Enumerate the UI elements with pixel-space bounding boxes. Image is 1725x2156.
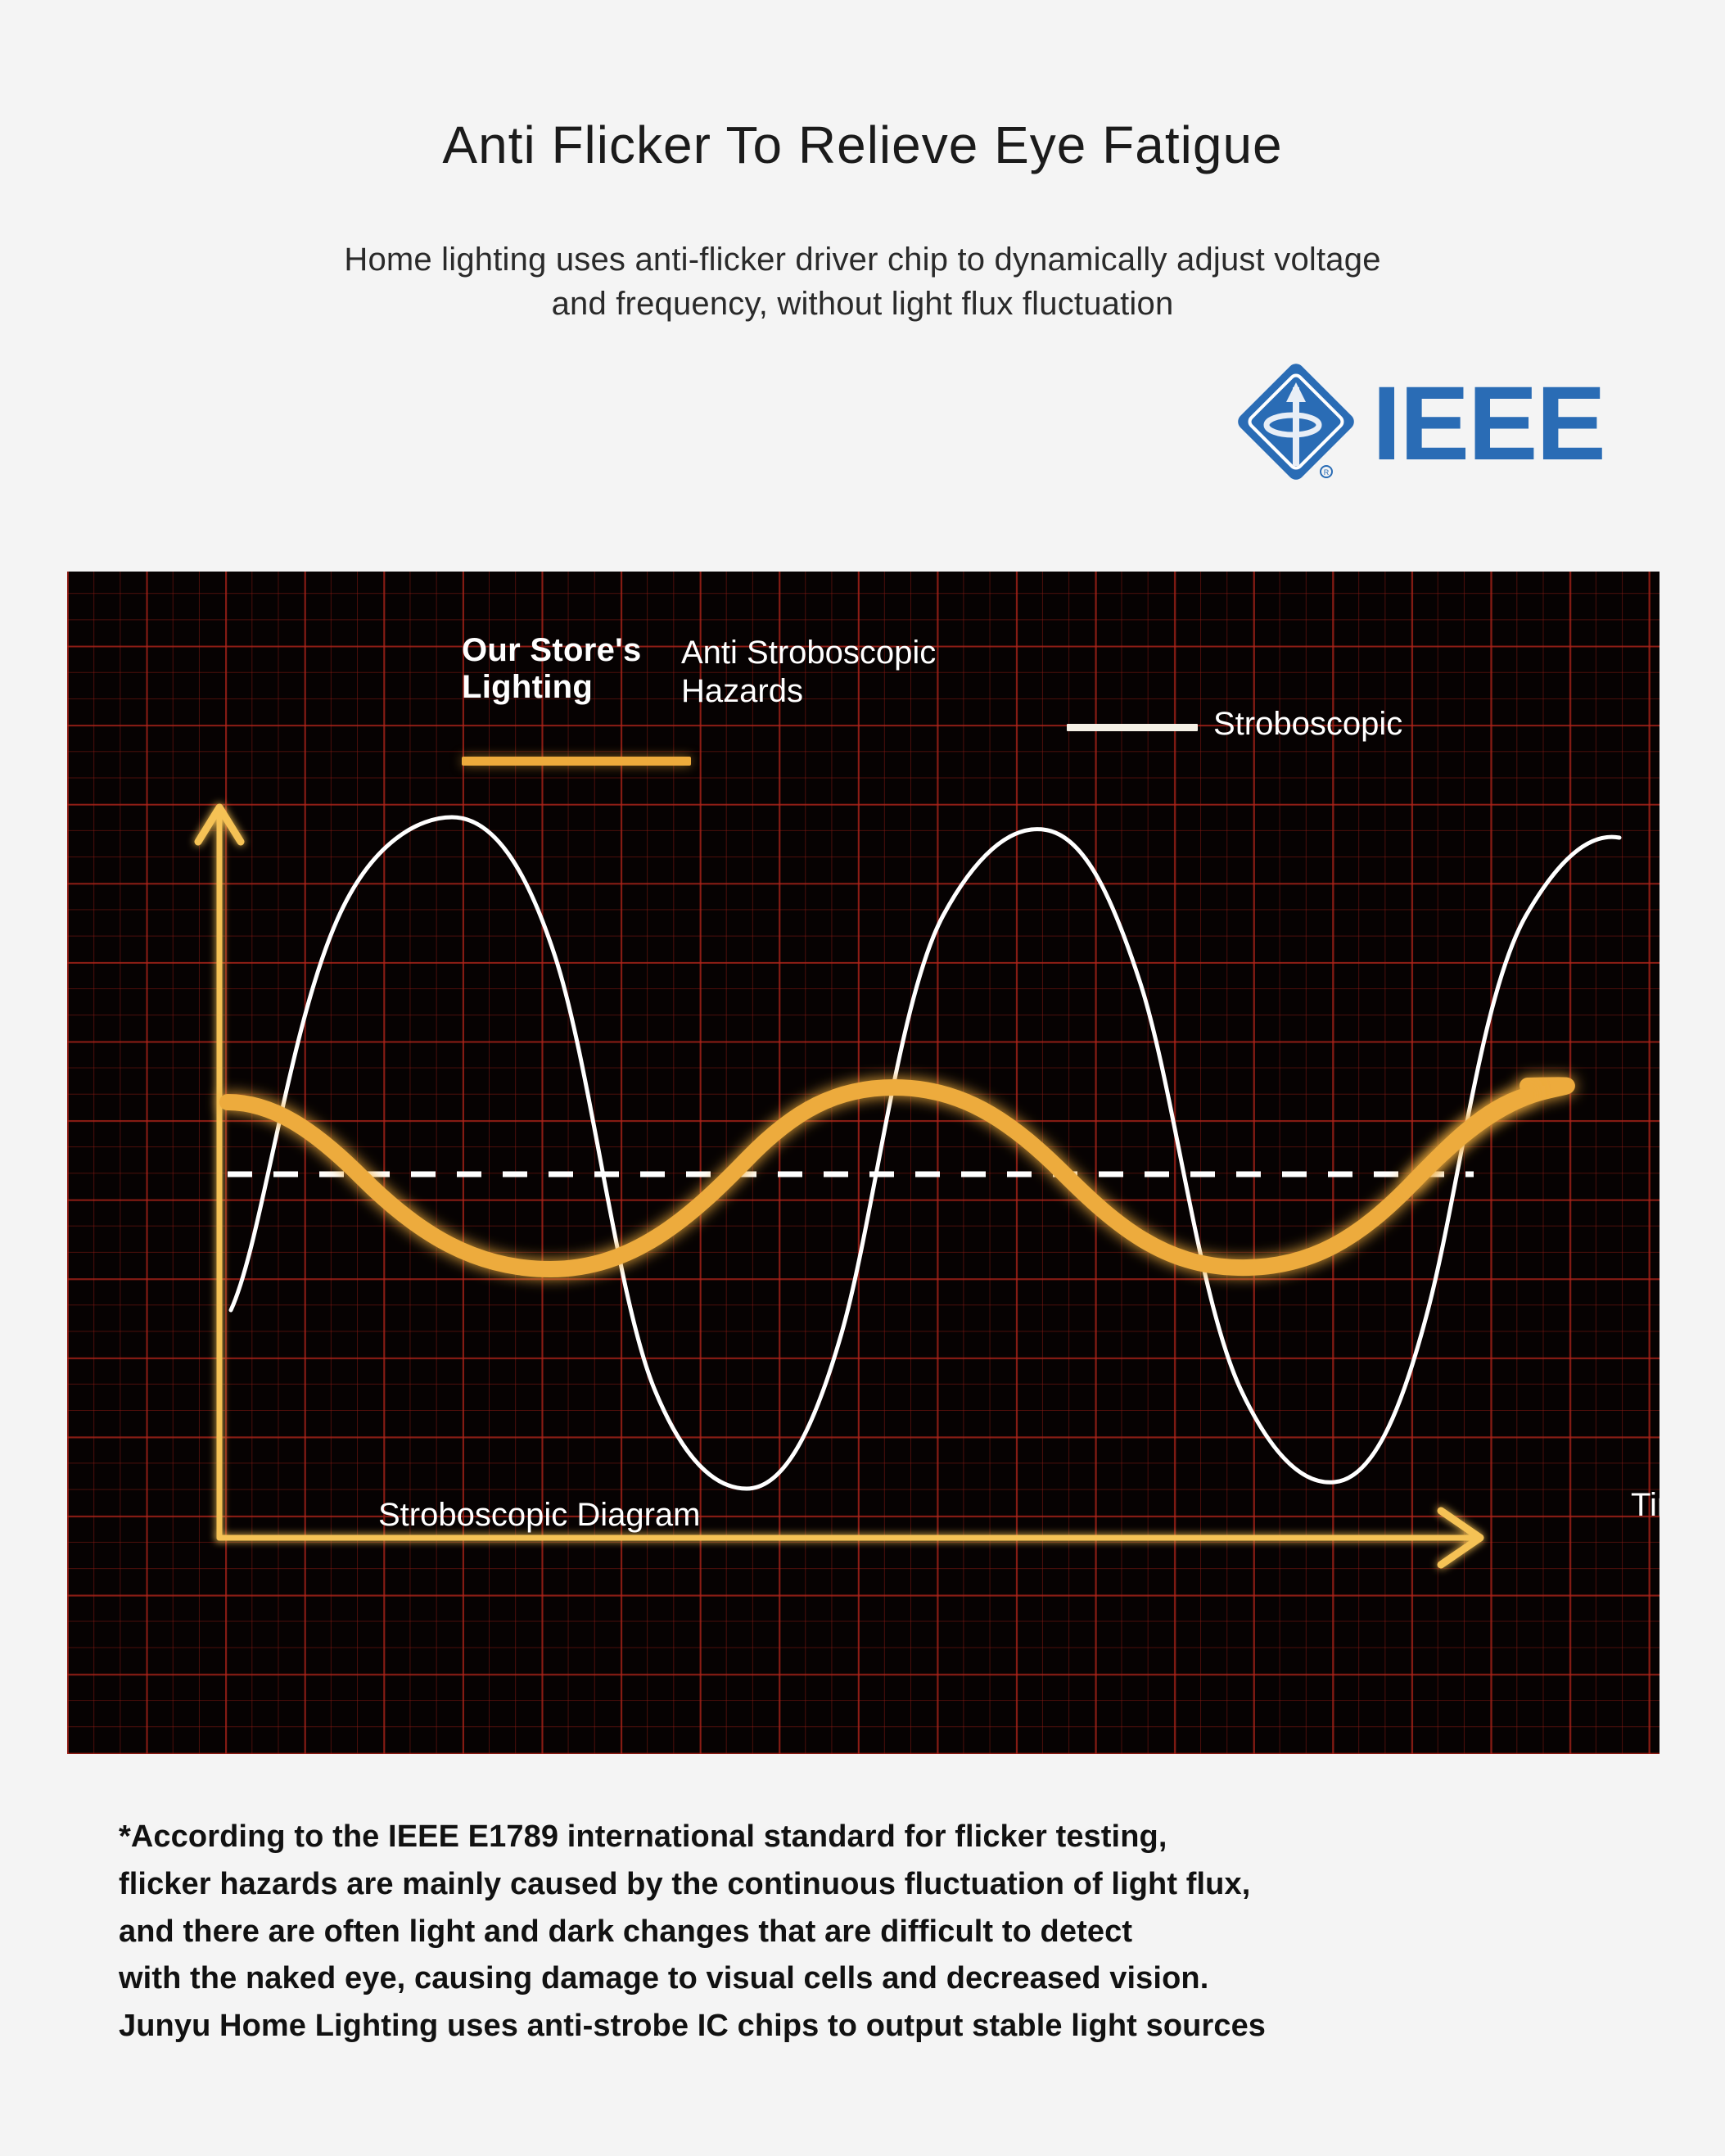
footnote-line-4: with the naked eye, causing damage to vi… (119, 1955, 1625, 2003)
infographic-page: Anti Flicker To Relieve Eye Fatigue Home… (0, 0, 1725, 2156)
ieee-diamond-icon: R (1235, 363, 1357, 486)
svg-text:R: R (1324, 468, 1330, 477)
page-subtitle-line-1: Home lighting uses anti-flicker driver c… (0, 237, 1725, 282)
chart-plot-area (67, 572, 1660, 1754)
footnote: *According to the IEEE E1789 internation… (119, 1814, 1625, 2050)
ieee-logo: R IEEE (1235, 359, 1652, 490)
footnote-line-5: Junyu Home Lighting uses anti-strobe IC … (119, 2003, 1625, 2050)
footnote-line-1: *According to the IEEE E1789 internation… (119, 1814, 1625, 1861)
x-axis-label: Time (1631, 1487, 1660, 1524)
stroboscopic-chart: Our Store's Lighting Anti Stroboscopic H… (67, 572, 1660, 1754)
page-subtitle-line-2: and frequency, without light flux fluctu… (0, 282, 1725, 326)
footnote-line-3: and there are often light and dark chang… (119, 1909, 1625, 1956)
ieee-wordmark: IEEE (1372, 372, 1605, 477)
page-subtitle: Home lighting uses anti-flicker driver c… (0, 237, 1725, 326)
footnote-line-2: flicker hazards are mainly caused by the… (119, 1861, 1625, 1909)
series-our-store-lighting-curve (228, 1085, 1567, 1269)
chart-caption: Stroboscopic Diagram (378, 1497, 701, 1534)
page-title: Anti Flicker To Relieve Eye Fatigue (0, 115, 1725, 175)
series-our-store-lighting-tail (1413, 1094, 1533, 1182)
series-stroboscopic-curve (231, 817, 1619, 1489)
